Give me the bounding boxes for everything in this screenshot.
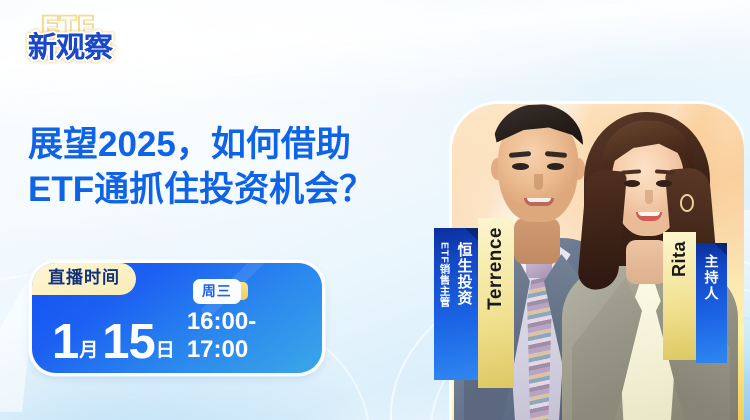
banner-fold-corner (465, 228, 478, 241)
teeth (527, 198, 551, 202)
banner-fold-corner (714, 243, 727, 256)
schedule-weekday-wrap: 周三 (193, 279, 241, 304)
page-title: 展望2025，如何借助 ETF通抓住投资机会？ (28, 123, 448, 213)
speaker-name-terrence: Terrence (485, 227, 507, 310)
speaker-role-banner-rita: 主持人 (696, 243, 727, 363)
earring (680, 194, 694, 212)
schedule-time-range: 16:00-17:00 (187, 308, 308, 364)
schedule-time-group: 周三 16:00-17:00 (187, 279, 308, 364)
schedule-details: 1 月 15 日 周三 16:00-17:00 (52, 307, 308, 365)
speaker-role-rita: 主持人 (702, 254, 722, 302)
schedule-month-number: 1 (52, 320, 78, 365)
speaker-name-banner-terrence: Terrence (478, 218, 514, 388)
speaker-name-banner-rita: Rita (663, 232, 696, 360)
nose (534, 174, 543, 190)
speaker-title-terrence: ETF销售主管 (438, 242, 453, 307)
schedule-label: 直播时间 (32, 263, 136, 295)
neck (514, 218, 560, 264)
neck (626, 240, 668, 284)
speaker-role-banner-terrence: ETF销售主管 恒生投资 (434, 228, 478, 380)
schedule-weekday-badge: 周三 (193, 279, 241, 304)
schedule-card: 直播时间 1 月 15 日 周三 16:00-17:00 (32, 263, 322, 373)
speaker-name-rita: Rita (669, 241, 690, 277)
nose (645, 190, 653, 204)
teeth (638, 212, 660, 216)
live-event-poster: ETF ETF 新观察 新观察 (0, 0, 750, 420)
page-title-line-1: 展望2025，如何借助 (28, 123, 448, 168)
brand-logo-cn-text: 新观察 (28, 33, 112, 65)
page-title-line-2: ETF通抓住投资机会？ (28, 168, 448, 213)
schedule-date: 1 月 15 日 (52, 320, 177, 365)
schedule-day-number: 15 (102, 320, 155, 365)
eye-left (624, 180, 640, 187)
eye-right (656, 180, 672, 187)
speaker-company-terrence: 恒生投资 (454, 242, 475, 306)
schedule-month-unit: 月 (79, 341, 98, 360)
schedule-day-unit: 日 (156, 341, 175, 360)
brand-logo: ETF ETF 新观察 新观察 (28, 14, 133, 70)
eye-left (512, 163, 529, 170)
eye-right (547, 163, 564, 170)
